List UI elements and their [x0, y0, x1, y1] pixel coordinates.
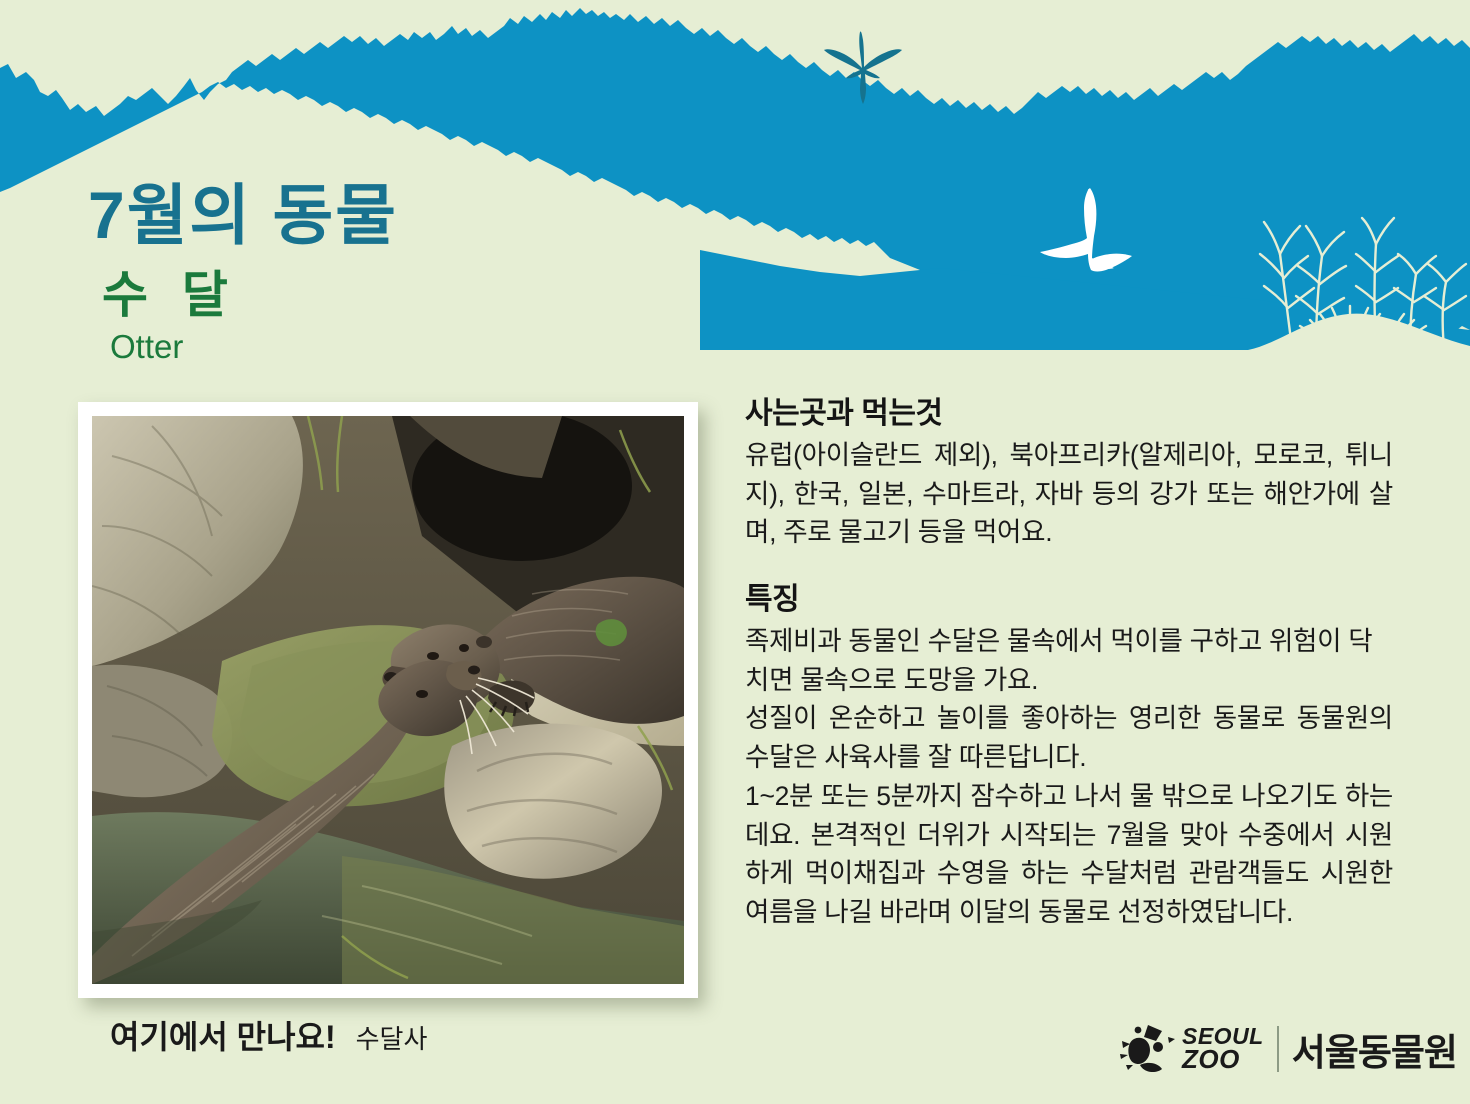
- section-habitat-paragraph: 유럽(아이슬란드 제외), 북아프리카(알제리아, 모로코, 튀니지), 한국,…: [745, 436, 1393, 552]
- otter-photo: [92, 416, 684, 984]
- zoo-wordmark: SEOUL ZOO: [1182, 1026, 1264, 1071]
- animal-name-korean: 수 달: [102, 270, 398, 320]
- section-features-paragraph-2: 성질이 온순하고 놀이를 좋아하는 영리한 동물로 동물원의 수달은 사육사를 …: [745, 699, 1393, 776]
- logo-divider: [1277, 1026, 1279, 1072]
- page-title: 7월의 동물: [88, 182, 398, 248]
- section-habitat-heading: 사는곳과 먹는것: [745, 388, 1393, 432]
- seoul-zoo-logo: SEOUL ZOO 서울동물원: [1118, 1018, 1457, 1080]
- poster-root: 7월의 동물 수 달 Otter: [0, 0, 1470, 1104]
- section-features-paragraph-3: 1~2분 또는 5분까지 잠수하고 나서 물 밖으로 나오기도 하는데요. 본격…: [745, 777, 1393, 932]
- caption-place: 수달사: [356, 1019, 428, 1056]
- zoo-name-korean: 서울동물원: [1292, 1022, 1457, 1076]
- info-text-column: 사는곳과 먹는것 유럽(아이슬란드 제외), 북아프리카(알제리아, 모로코, …: [745, 388, 1393, 932]
- title-block: 7월의 동물 수 달 Otter: [88, 182, 398, 363]
- animal-name-english: Otter: [110, 330, 398, 363]
- section-features-paragraph-1: 족제비과 동물인 수달은 물속에서 먹이를 구하고 위험이 닥치면 물속으로 도…: [745, 622, 1393, 699]
- zoo-paw-mark-icon: [1118, 1021, 1180, 1077]
- eagle-silhouette: [1040, 188, 1132, 272]
- mountain-lower-ridge: [700, 250, 1470, 350]
- bird-silhouette: [824, 31, 902, 104]
- caption-label: 여기에서 만나요!: [110, 1012, 336, 1058]
- otter-photo-frame: [78, 402, 698, 998]
- caption: 여기에서 만나요! 수달사: [110, 1012, 427, 1058]
- section-features-heading: 특징: [745, 574, 1393, 618]
- section-habitat: 사는곳과 먹는것 유럽(아이슬란드 제외), 북아프리카(알제리아, 모로코, …: [745, 388, 1393, 552]
- section-features: 특징 족제비과 동물인 수달은 물속에서 먹이를 구하고 위험이 닥치면 물속으…: [745, 574, 1393, 932]
- reed-grass-silhouette: [1248, 218, 1470, 350]
- zoo-wordmark-zoo: ZOO: [1182, 1048, 1264, 1072]
